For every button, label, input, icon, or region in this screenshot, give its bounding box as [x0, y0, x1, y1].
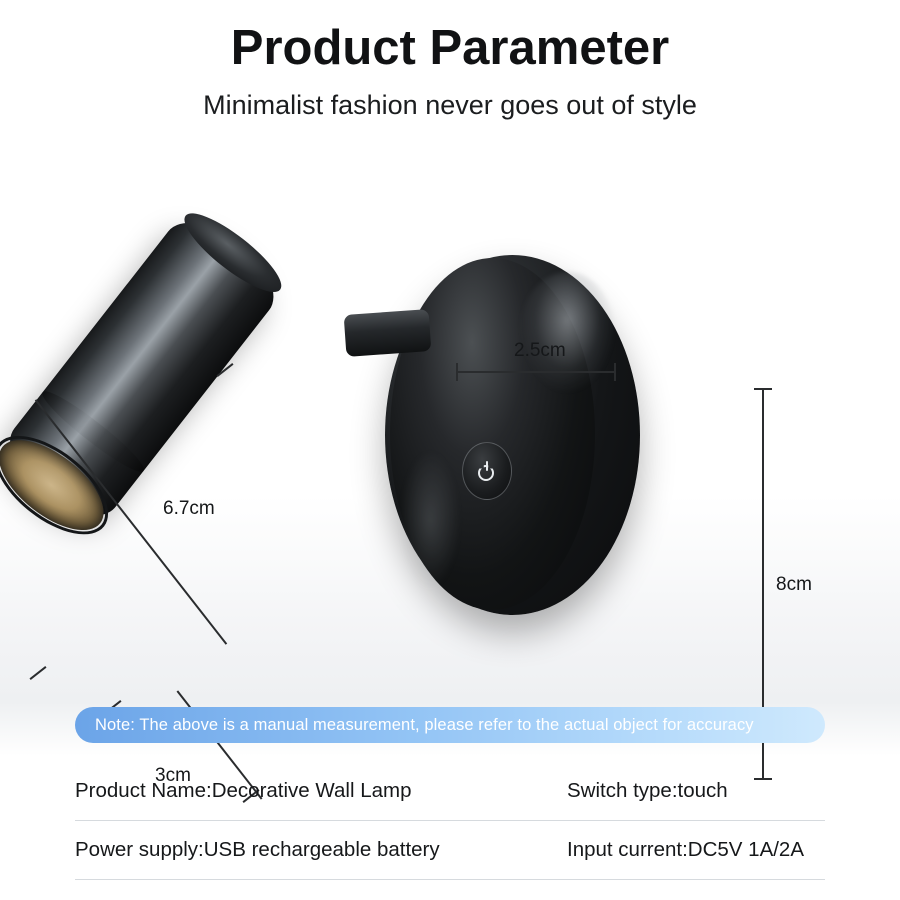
measurement-note-banner: Note: The above is a manual measurement,… — [75, 707, 825, 743]
page-header: Product Parameter Minimalist fashion nev… — [0, 0, 900, 121]
dimension-cap-diagonal-bottom — [30, 666, 47, 680]
dimension-cap-top-left — [456, 363, 458, 381]
product-parameter-page: Product Parameter Minimalist fashion nev… — [0, 0, 900, 900]
lamp-arm — [344, 309, 432, 357]
power-icon-bar — [486, 461, 488, 471]
dimension-line-top — [456, 371, 616, 373]
product-illustration: 2.5cm 8cm 6.7cm 3cm — [0, 160, 900, 680]
page-title: Product Parameter — [0, 22, 900, 76]
dimension-label-diagonal: 6.7cm — [163, 498, 215, 520]
table-row: Product Name:Decorative Wall Lamp Switch… — [75, 762, 825, 821]
spec-switch-type: Switch type:touch — [567, 779, 825, 803]
touch-switch-button[interactable] — [462, 442, 512, 500]
table-row: Power supply:USB rechargeable battery In… — [75, 821, 825, 880]
spec-input-current: Input current:DC5V 1A/2A — [567, 838, 825, 862]
dimension-label-top: 2.5cm — [514, 340, 566, 362]
spec-table: Product Name:Decorative Wall Lamp Switch… — [75, 762, 825, 880]
product-stage — [100, 200, 780, 660]
dimension-label-right: 8cm — [776, 574, 812, 596]
dimension-cap-top-right — [614, 363, 616, 381]
page-subtitle: Minimalist fashion never goes out of sty… — [0, 90, 900, 121]
spec-power-supply: Power supply:USB rechargeable battery — [75, 838, 567, 862]
spec-product-name: Product Name:Decorative Wall Lamp — [75, 779, 567, 803]
lamp-base-highlight-secondary — [400, 450, 460, 590]
lamp-base-highlight — [520, 272, 615, 392]
power-icon — [478, 461, 496, 481]
lamp-spot-head — [0, 205, 290, 544]
dimension-cap-right-top — [754, 388, 772, 390]
